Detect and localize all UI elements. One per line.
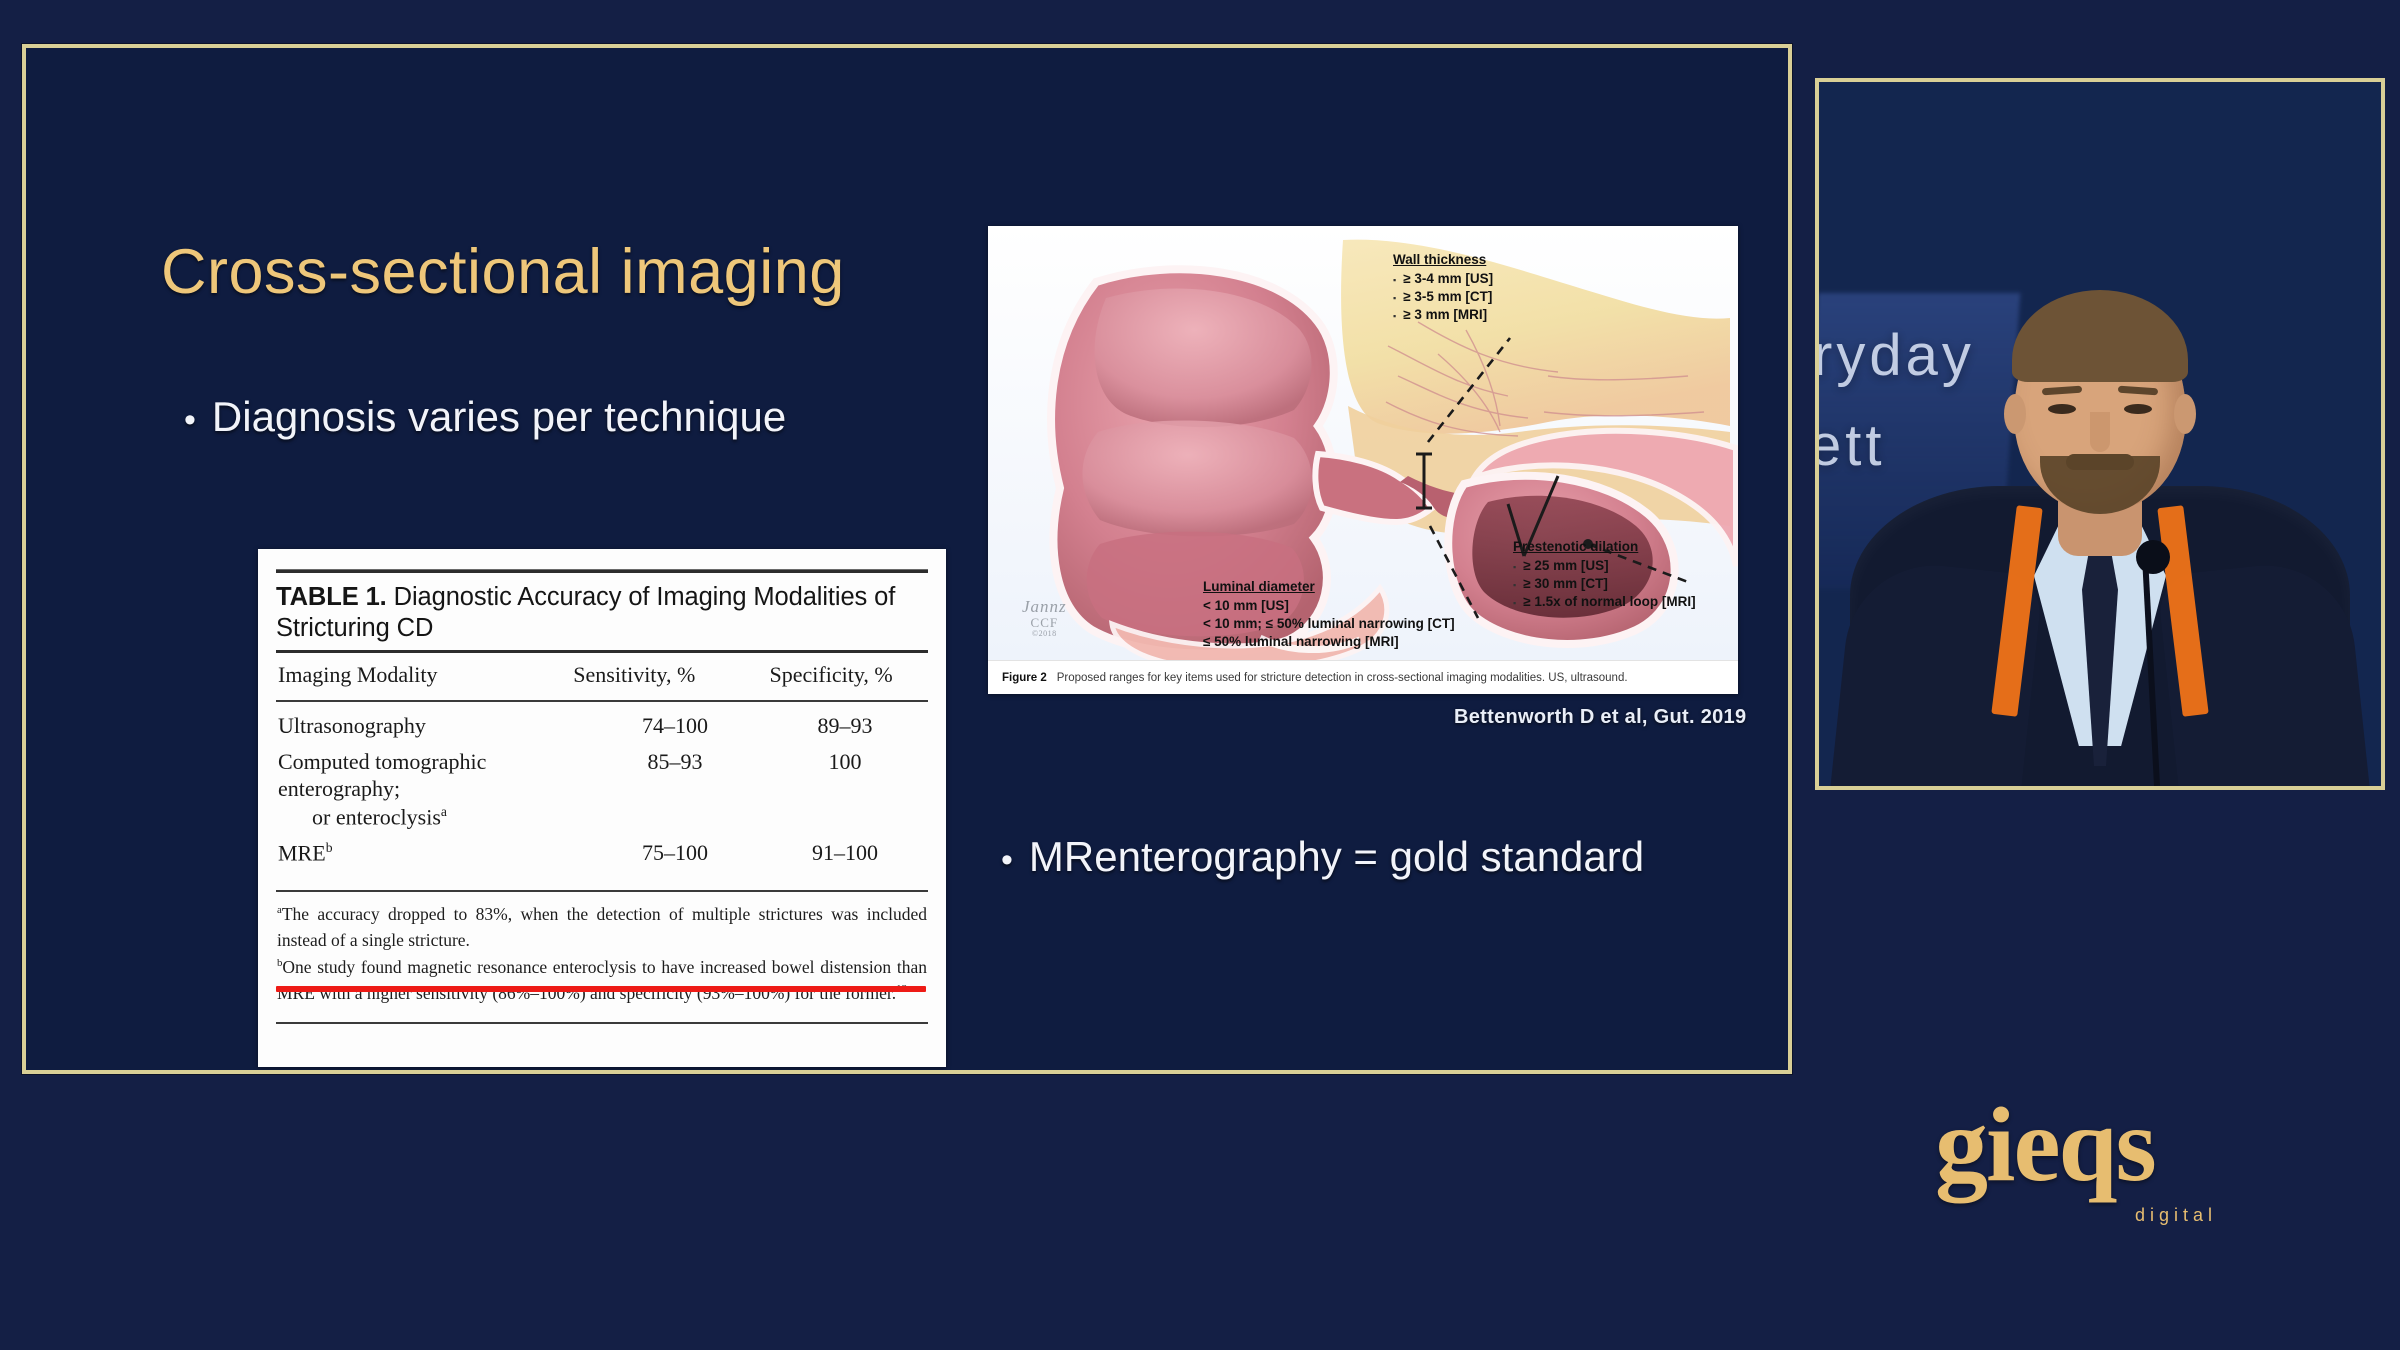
accuracy-table: Imaging Modality Sensitivity, % Specific…	[274, 658, 930, 696]
cell-sensitivity: 75–100	[590, 833, 760, 869]
table-body: Ultrasonography 74–100 89–93 Computed to…	[274, 706, 930, 868]
annotation-title: Luminal diameter	[1203, 578, 1455, 596]
table-footer-rule	[276, 1022, 928, 1024]
cell-specificity: 91–100	[760, 833, 930, 869]
annotation-prestenotic-dilation: Prestenotic dilation ▪≥ 25 mm [US] ▪≥ 30…	[1513, 538, 1696, 611]
column-header-modality: Imaging Modality	[274, 658, 536, 696]
list-marker-icon: ▪	[1393, 311, 1396, 323]
table-row: Ultrasonography 74–100 89–93	[274, 706, 930, 742]
slide-content: Cross-sectional imaging • Diagnosis vari…	[26, 48, 1788, 1070]
slide-title: Cross-sectional imaging	[161, 236, 845, 308]
column-header-sensitivity: Sensitivity, %	[536, 658, 732, 696]
annotation-item: ▪≥ 30 mm [CT]	[1513, 575, 1696, 593]
table-row: Computed tomographic enterography; or en…	[274, 742, 930, 833]
table-bottom-rule	[276, 890, 928, 892]
anatomy-figure-card: Wall thickness ▪≥ 3-4 mm [US] ▪≥ 3-5 mm …	[988, 226, 1738, 694]
bowel-stricture-illustration: Wall thickness ▪≥ 3-4 mm [US] ▪≥ 3-5 mm …	[988, 226, 1738, 660]
cell-sensitivity: 85–93	[590, 742, 760, 833]
annotation-item: ≤ 50% luminal narrowing [MRI]	[1203, 633, 1455, 651]
table-heading: TABLE 1. Diagnostic Accuracy of Imaging …	[276, 582, 928, 644]
list-marker-icon: ▪	[1513, 562, 1516, 574]
annotation-item: < 10 mm [US]	[1203, 597, 1455, 615]
speaker-moustache	[2066, 454, 2134, 470]
signature-year: ©2018	[1022, 630, 1067, 638]
annotation-item: ▪≥ 25 mm [US]	[1513, 557, 1696, 575]
annotation-item: ▪≥ 3 mm [MRI]	[1393, 306, 1493, 324]
speaker-ear-left	[2004, 394, 2026, 434]
mre-highlight-underline	[276, 986, 926, 992]
annotation-luminal-diameter: Luminal diameter < 10 mm [US] < 10 mm; ≤…	[1203, 578, 1455, 651]
annotation-title: Wall thickness	[1393, 251, 1493, 269]
footnote-a: aThe accuracy dropped to 83%, when the d…	[277, 902, 927, 953]
microphone-head-icon	[2136, 540, 2170, 574]
table-header-rule	[276, 700, 928, 702]
list-marker-icon: ▪	[1393, 293, 1396, 305]
backdrop-text-line-2: ett	[1819, 412, 1886, 479]
artist-signature: Jannz CCF ©2018	[1022, 598, 1067, 638]
backdrop-text-line-1: ryday	[1819, 322, 1975, 389]
figure-caption: Figure 2 Proposed ranges for key items u…	[988, 660, 1738, 694]
speaker-eye-right	[2124, 404, 2152, 414]
cell-modality: Ultrasonography	[274, 706, 590, 742]
figure-label: Figure 2	[1002, 672, 1047, 684]
table-heading-rule	[276, 650, 928, 653]
speaker-ear-right	[2174, 394, 2196, 434]
footnote-b: bOne study found magnetic resonance ente…	[277, 955, 927, 1006]
cell-specificity: 100	[760, 742, 930, 833]
annotation-list: < 10 mm [US] < 10 mm; ≤ 50% luminal narr…	[1203, 597, 1455, 651]
diagnostic-accuracy-table-card: TABLE 1. Diagnostic Accuracy of Imaging …	[258, 549, 946, 1067]
cell-specificity: 89–93	[760, 706, 930, 742]
figure-citation: Bettenworth D et al, Gut. 2019	[1454, 706, 1746, 729]
bullet-mrenterography-gold-standard: • MRenterography = gold standard	[1001, 833, 1644, 881]
list-marker-icon: ▪	[1513, 580, 1516, 592]
bullet-text: MRenterography = gold standard	[1029, 833, 1644, 881]
footnote-ref-a: a	[441, 804, 447, 819]
brand-wordmark: gieqs	[1935, 1095, 2265, 1196]
annotation-item: ▪≥ 1.5x of normal loop [MRI]	[1513, 593, 1696, 611]
annotation-list: ▪≥ 25 mm [US] ▪≥ 30 mm [CT] ▪≥ 1.5x of n…	[1513, 557, 1696, 611]
speaker-eye-left	[2048, 404, 2076, 414]
table-label: TABLE 1.	[276, 583, 387, 611]
bullet-diagnosis-varies: • Diagnosis varies per technique	[184, 393, 786, 441]
gieqs-logo: gieqs digital	[1935, 1095, 2265, 1230]
speaker-video-panel[interactable]: ryday ett	[1815, 78, 2385, 790]
brand-tagline: digital	[2135, 1205, 2217, 1226]
table-header-row: Imaging Modality Sensitivity, % Specific…	[274, 658, 930, 696]
footnote-ref-b: b	[326, 840, 333, 855]
annotation-item: ▪≥ 3-4 mm [US]	[1393, 270, 1493, 288]
bullet-text: Diagnosis varies per technique	[212, 393, 786, 441]
table-top-rule	[276, 569, 928, 573]
annotation-item: ▪≥ 3-5 mm [CT]	[1393, 288, 1493, 306]
annotation-list: ▪≥ 3-4 mm [US] ▪≥ 3-5 mm [CT] ▪≥ 3 mm [M…	[1393, 270, 1493, 324]
figure-caption-text: Proposed ranges for key items used for s…	[1057, 672, 1628, 684]
cell-modality-line1: Computed tomographic enterography;	[278, 749, 486, 802]
cell-sensitivity: 74–100	[590, 706, 760, 742]
list-marker-icon: ▪	[1513, 598, 1516, 610]
bullet-marker-icon: •	[184, 403, 196, 437]
table-head: Imaging Modality Sensitivity, % Specific…	[274, 658, 930, 696]
annotation-item: < 10 mm; ≤ 50% luminal narrowing [CT]	[1203, 615, 1455, 633]
cell-modality: MREb	[274, 833, 590, 869]
signature-name: Jannz	[1022, 598, 1067, 616]
cell-modality: Computed tomographic enterography; or en…	[274, 742, 590, 833]
signature-org: CCF	[1022, 616, 1067, 630]
speaker-nose	[2090, 412, 2110, 452]
annotation-title: Prestenotic dilation	[1513, 538, 1696, 556]
bullet-marker-icon: •	[1001, 843, 1013, 877]
accuracy-table-body: Ultrasonography 74–100 89–93 Computed to…	[274, 706, 930, 868]
annotation-wall-thickness: Wall thickness ▪≥ 3-4 mm [US] ▪≥ 3-5 mm …	[1393, 251, 1493, 324]
speaker-video-feed: ryday ett	[1819, 82, 2381, 786]
list-marker-icon: ▪	[1393, 275, 1396, 287]
cell-modality-line2: or enteroclysisa	[278, 803, 590, 831]
table-row-highlighted: MREb 75–100 91–100	[274, 833, 930, 869]
column-header-specificity: Specificity, %	[732, 658, 930, 696]
screen: Cross-sectional imaging • Diagnosis vari…	[0, 0, 2400, 1350]
presentation-slide: Cross-sectional imaging • Diagnosis vari…	[22, 44, 1792, 1074]
